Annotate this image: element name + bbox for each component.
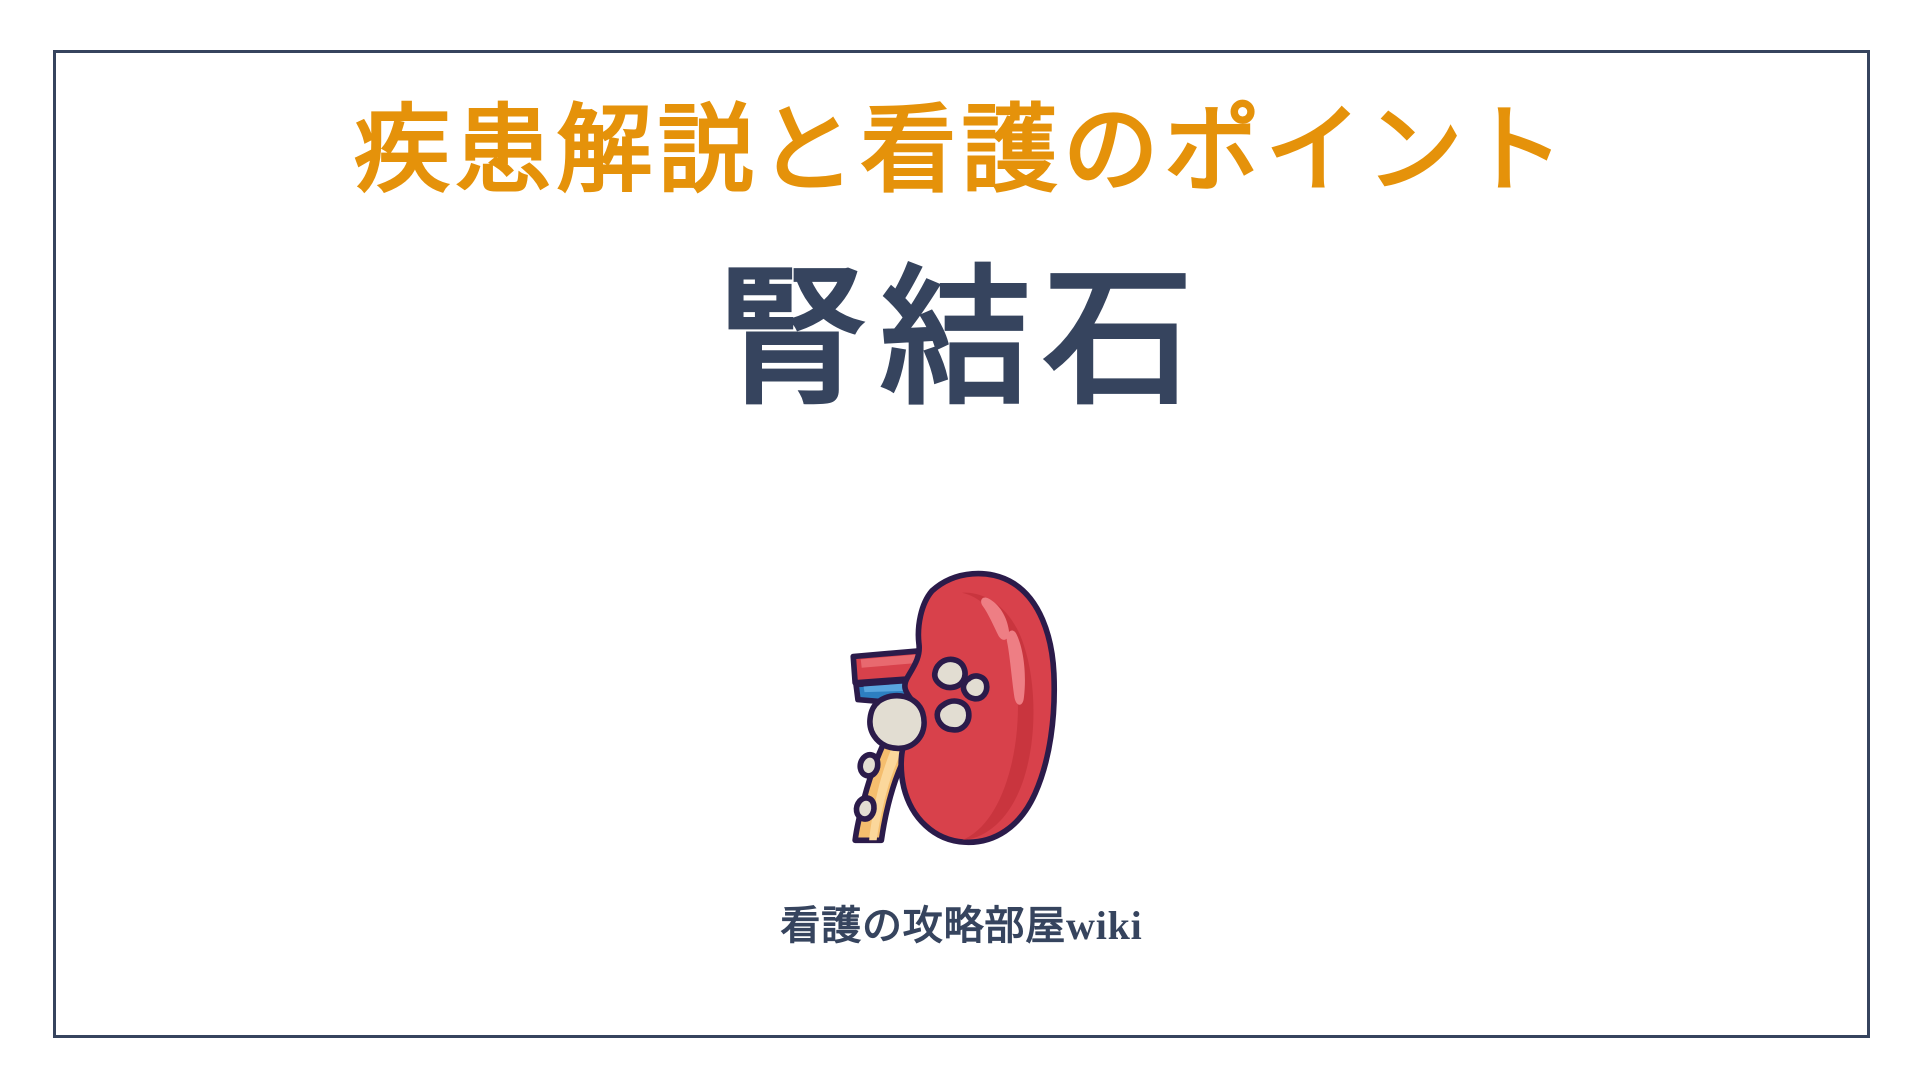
- kidney-stone-upper: [934, 659, 964, 687]
- pelvis-stone: [869, 696, 923, 749]
- kidney-stones-illustration: [797, 559, 1127, 859]
- eyebrow-title: 疾患解説と看護のポイント: [354, 95, 1569, 206]
- slide-content: 疾患解説と看護のポイント 腎結石: [53, 50, 1870, 1038]
- kidney-illustration-svg: [797, 559, 1127, 859]
- kidney-stone-lower: [937, 701, 969, 730]
- slide-canvas: 疾患解説と看護のポイント 腎結石: [0, 0, 1920, 1080]
- disease-title: 腎結石: [717, 256, 1205, 424]
- ureter-stone-upper: [860, 755, 877, 776]
- site-credit: 看護の攻略部屋wiki: [53, 902, 1870, 950]
- ureter-stone-lower: [856, 798, 873, 819]
- kidney-stone-middle: [963, 676, 986, 699]
